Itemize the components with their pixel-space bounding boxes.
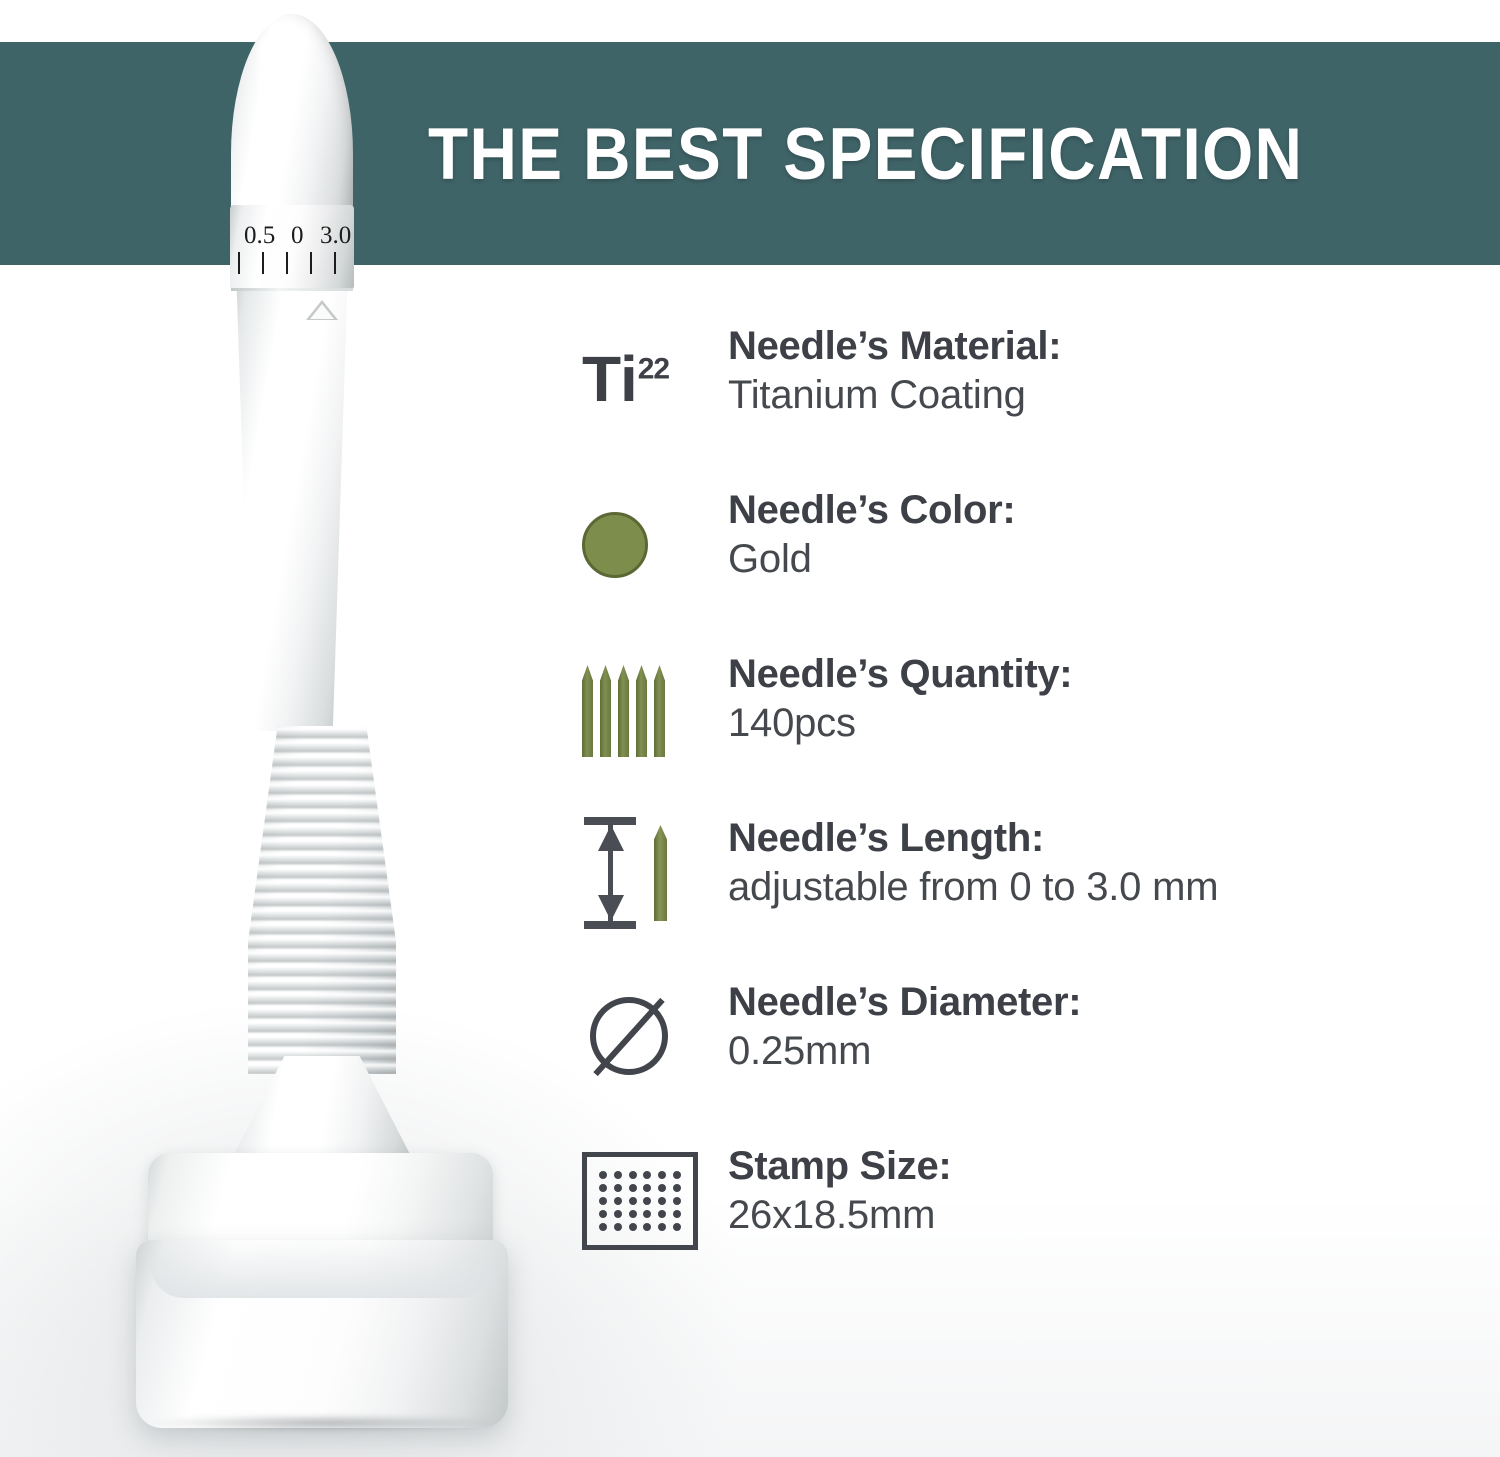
spec-row-color: Needle’s Color: Gold xyxy=(576,486,1484,604)
spec-text-diameter: Needle’s Diameter: 0.25mm xyxy=(728,978,1484,1075)
spec-row-quantity: Needle’s Quantity: 140pcs xyxy=(576,650,1484,768)
page-title: THE BEST SPECIFICATION xyxy=(428,118,1369,191)
product-image: 0.5 0 3.0 xyxy=(0,0,560,1457)
product-grip xyxy=(248,726,396,1074)
dial-label-1: 0 xyxy=(291,222,304,250)
needle-icon xyxy=(636,665,647,757)
spec-text-color: Needle’s Color: Gold xyxy=(728,486,1484,583)
stamp-grid-group xyxy=(582,1152,698,1250)
dial-ticks xyxy=(230,252,354,276)
spec-text-quantity: Needle’s Quantity: 140pcs xyxy=(728,650,1484,747)
stamp-dot xyxy=(673,1210,681,1218)
spec-value-quantity: 140pcs xyxy=(728,699,1484,747)
spec-text-stamp-size: Stamp Size: 26x18.5mm xyxy=(728,1142,1484,1239)
stamp-dot xyxy=(599,1171,607,1179)
measure-arrow-up-icon xyxy=(598,825,624,851)
stamp-dot xyxy=(629,1171,637,1179)
product-neck xyxy=(232,291,352,731)
spec-value-color: Gold xyxy=(728,535,1484,583)
specification-list: Ti22 Needle’s Material: Titanium Coating… xyxy=(576,322,1484,1306)
needle-icon xyxy=(618,665,629,757)
titanium-symbol-icon: Ti22 xyxy=(576,322,728,440)
spec-label-color: Needle’s Color: xyxy=(728,488,1484,533)
titanium-mass-number: 22 xyxy=(638,353,669,386)
needle-icon xyxy=(654,825,667,921)
stamp-dot xyxy=(658,1184,666,1192)
length-measure-icon xyxy=(576,814,728,932)
product-shadow xyxy=(150,1415,498,1431)
spec-label-stamp-size: Stamp Size: xyxy=(728,1144,1484,1189)
stamp-dot xyxy=(658,1197,666,1205)
stamp-dot xyxy=(599,1223,607,1231)
spec-label-length: Needle’s Length: xyxy=(728,816,1484,861)
length-measure-group xyxy=(582,817,682,929)
stamp-dot xyxy=(614,1197,622,1205)
stamp-dot xyxy=(643,1223,651,1231)
measure-cap-top-icon xyxy=(584,817,636,825)
spec-text-length: Needle’s Length: adjustable from 0 to 3.… xyxy=(728,814,1484,911)
dial-labels: 0.5 0 3.0 xyxy=(230,222,354,256)
stamp-dot xyxy=(614,1171,622,1179)
stamp-dot xyxy=(643,1184,651,1192)
spec-label-quantity: Needle’s Quantity: xyxy=(728,652,1484,697)
titanium-symbol-text: Ti xyxy=(582,343,638,415)
spec-value-stamp-size: 26x18.5mm xyxy=(728,1191,1484,1239)
needle-icon xyxy=(582,665,593,757)
stamp-dot xyxy=(658,1223,666,1231)
dial-seam xyxy=(231,288,353,291)
stamp-grid-icon xyxy=(576,1142,728,1260)
spec-value-material: Titanium Coating xyxy=(728,371,1484,419)
stamp-dot xyxy=(629,1210,637,1218)
stamp-dot xyxy=(658,1171,666,1179)
measure-cap-bottom-icon xyxy=(584,921,636,929)
stamp-dot xyxy=(614,1210,622,1218)
spec-value-length: adjustable from 0 to 3.0 mm xyxy=(728,863,1484,911)
stamp-dot xyxy=(673,1223,681,1231)
spec-row-length: Needle’s Length: adjustable from 0 to 3.… xyxy=(576,814,1484,932)
dial-label-2: 3.0 xyxy=(320,222,351,250)
grip-ribs xyxy=(248,726,396,1074)
stamp-dot xyxy=(643,1197,651,1205)
stamp-dot xyxy=(599,1197,607,1205)
measure-arrow-down-icon xyxy=(598,895,624,921)
stamp-dot xyxy=(614,1184,622,1192)
cap-highlight xyxy=(258,36,284,232)
spec-row-stamp-size: Stamp Size: 26x18.5mm xyxy=(576,1142,1484,1260)
stamp-dot xyxy=(599,1184,607,1192)
dial-label-0: 0.5 xyxy=(244,222,275,250)
spec-text-material: Needle’s Material: Titanium Coating xyxy=(728,322,1484,419)
spec-value-diameter: 0.25mm xyxy=(728,1027,1484,1075)
stamp-dot xyxy=(629,1223,637,1231)
needle-bundle-group xyxy=(582,661,665,757)
stamp-dot xyxy=(673,1171,681,1179)
diameter-symbol-group xyxy=(582,989,678,1085)
color-swatch-icon xyxy=(576,486,728,604)
dial-indicator-triangle-icon xyxy=(306,300,338,320)
needle-icon xyxy=(654,665,665,757)
stamp-dot xyxy=(658,1210,666,1218)
needle-bundle-icon xyxy=(576,650,728,768)
stamp-dot xyxy=(673,1184,681,1192)
stamp-dot xyxy=(673,1197,681,1205)
needle-icon xyxy=(600,665,611,757)
stamp-dot xyxy=(629,1197,637,1205)
infographic-page: THE BEST SPECIFICATION 0.5 0 3.0 xyxy=(0,0,1500,1457)
stamp-dot xyxy=(643,1210,651,1218)
spec-label-material: Needle’s Material: xyxy=(728,324,1484,369)
spec-label-diameter: Needle’s Diameter: xyxy=(728,980,1484,1025)
tray-lip xyxy=(150,1236,494,1298)
stamp-dot xyxy=(629,1184,637,1192)
spec-row-material: Ti22 Needle’s Material: Titanium Coating xyxy=(576,322,1484,440)
stamp-dot xyxy=(599,1210,607,1218)
color-swatch-dot-icon xyxy=(582,512,648,578)
stamp-dot xyxy=(643,1171,651,1179)
diameter-symbol-icon xyxy=(576,978,728,1096)
spec-row-diameter: Needle’s Diameter: 0.25mm xyxy=(576,978,1484,1096)
stamp-dot xyxy=(614,1223,622,1231)
